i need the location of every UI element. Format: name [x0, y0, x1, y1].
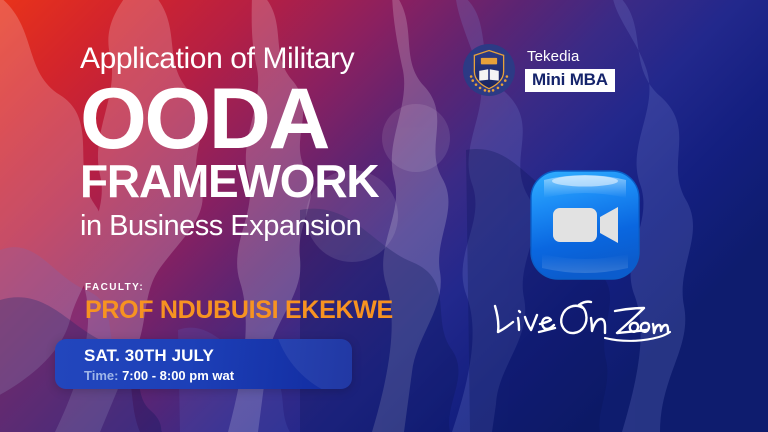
shield-book-icon	[463, 44, 515, 96]
brand-program-badge: Mini MBA	[525, 69, 615, 93]
faculty-name: PROF NDUBUISI EKEKWE	[85, 296, 393, 325]
brand-name: Tekedia	[525, 48, 579, 67]
faculty-block: FACULTY: PROF NDUBUISI EKEKWE	[85, 282, 393, 325]
schedule-text: SAT. 30TH JULY Time: 7:00 - 8:00 pm wat	[84, 346, 234, 383]
schedule-time: Time: 7:00 - 8:00 pm wat	[84, 368, 234, 383]
brand-text-column: Tekedia Mini MBA	[525, 48, 615, 92]
zoom-video-icon	[528, 168, 642, 282]
brand-lockup: Tekedia Mini MBA	[463, 44, 615, 96]
event-flyer: Application of Military OODA FRAMEWORK i…	[0, 0, 768, 432]
headline-kicker: Application of Military	[80, 44, 480, 75]
live-on-zoom-script	[487, 296, 679, 348]
pill-highlight	[272, 339, 352, 389]
schedule-time-value: 7:00 - 8:00 pm wat	[122, 368, 234, 383]
headline-framework: FRAMEWORK	[80, 160, 480, 204]
schedule-date: SAT. 30TH JULY	[84, 346, 234, 366]
headline-block: Application of Military OODA FRAMEWORK i…	[80, 44, 480, 241]
schedule-pill: SAT. 30TH JULY Time: 7:00 - 8:00 pm wat	[55, 339, 352, 389]
schedule-time-label: Time:	[84, 368, 118, 383]
headline-acronym: OODA	[80, 82, 480, 158]
headline-subline: in Business Expansion	[80, 211, 480, 241]
faculty-label: FACULTY:	[85, 282, 393, 293]
